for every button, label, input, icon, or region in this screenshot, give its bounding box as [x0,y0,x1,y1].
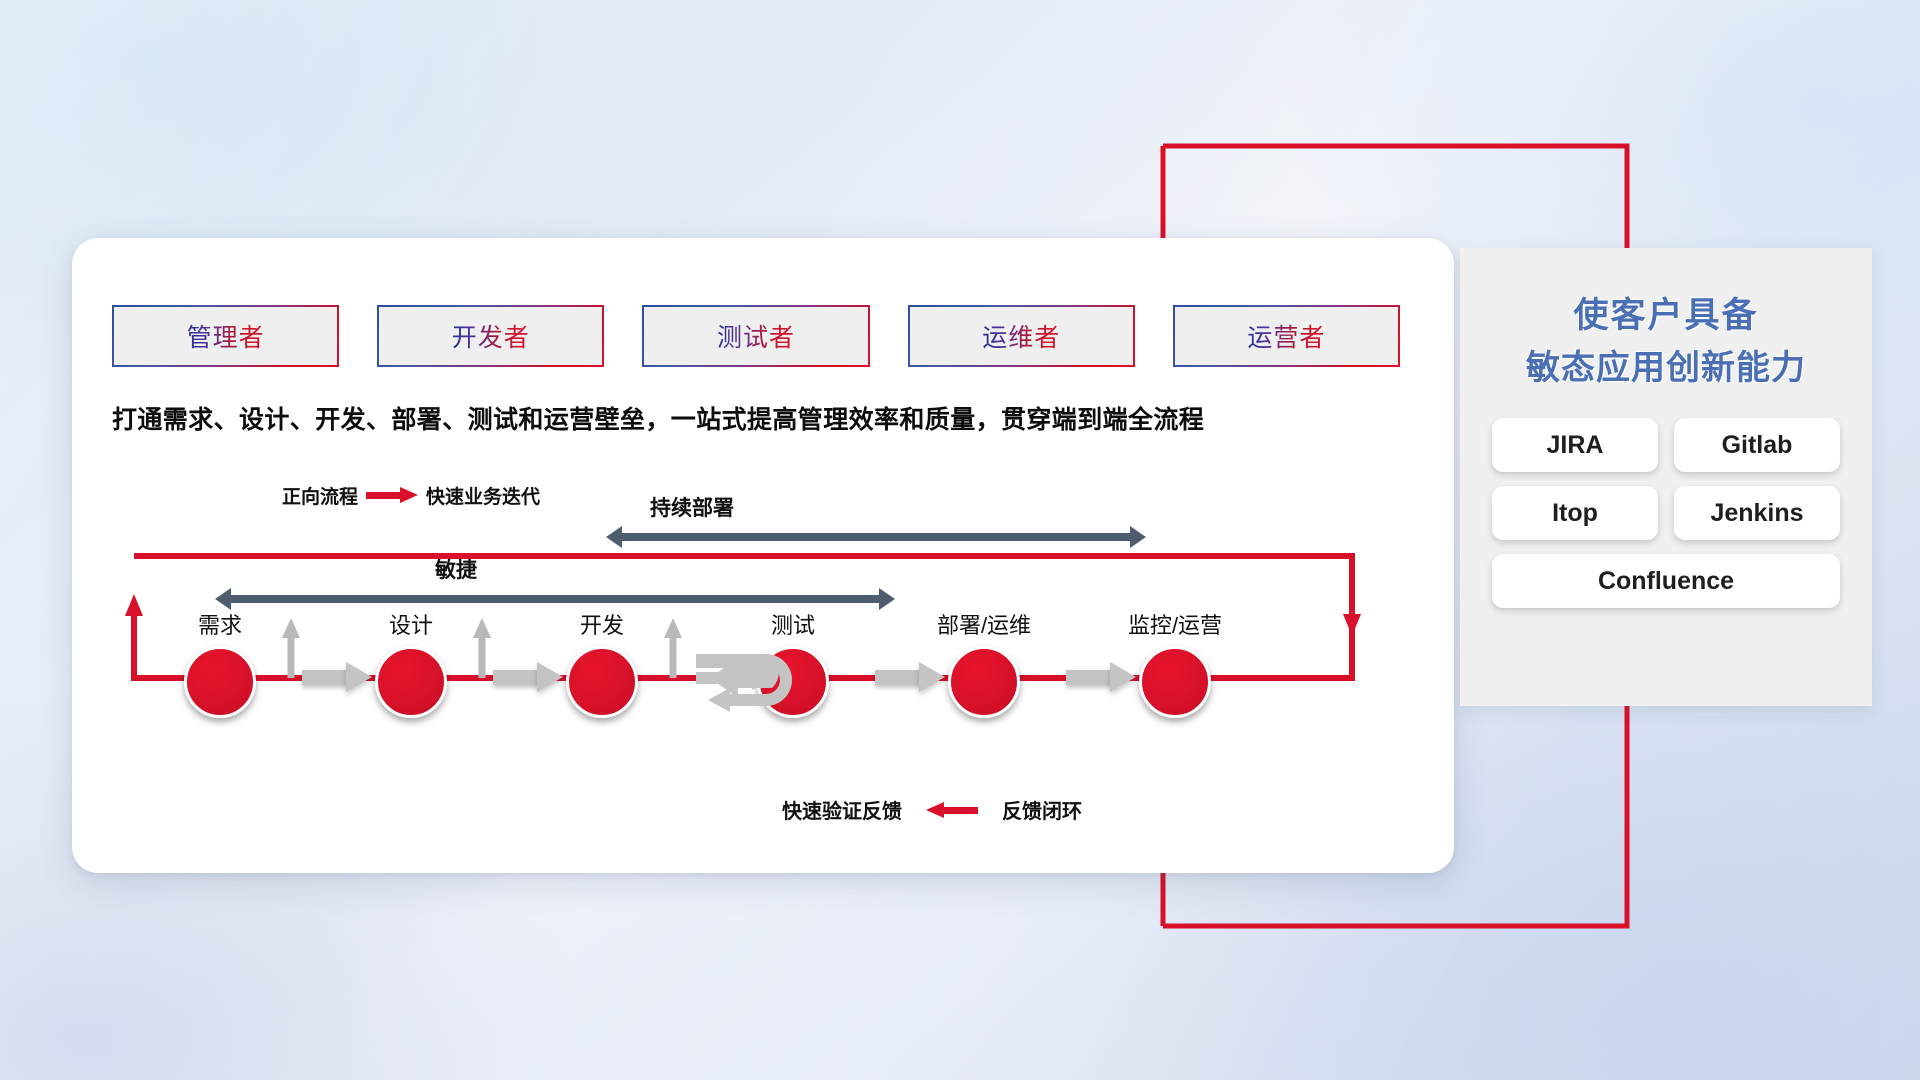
node-deploy-ops[interactable]: 部署/运维 [928,612,1040,718]
node-design[interactable]: 设计 [355,612,467,718]
red-arrow-right-icon [366,487,418,503]
tool-label-confluence: Confluence [1598,567,1734,596]
red-arrow-left-icon [926,802,978,818]
panel-headline-line1: 使客户具备 [1573,296,1758,335]
tool-chip-jira[interactable]: JIRA [1492,418,1658,472]
node-dot-development [566,646,638,718]
role-box-manager[interactable]: 管理者 [112,305,339,367]
role-box-operations[interactable]: 运营者 [1173,305,1400,367]
node-development[interactable]: 开发 [546,612,658,718]
node-dot-deploy-ops [948,646,1020,718]
tool-chip-confluence[interactable]: Confluence [1492,554,1840,608]
role-label-manager: 管理者 [187,318,265,354]
continuous-deployment-span-arrow-icon [606,526,1146,548]
tool-chip-itop[interactable]: Itop [1492,486,1658,540]
tagline-text: 打通需求、设计、开发、部署、测试和运营壁垒，一站式提高管理效率和质量，贯穿端到端… [112,400,1412,436]
agile-span-arrow-icon [215,588,895,610]
agile-label: 敏捷 [435,554,477,584]
role-label-ops: 运维者 [982,318,1060,354]
uturn-loop-arrow-icon [694,648,816,720]
node-label-design: 设计 [355,612,467,640]
node-label-deploy-ops: 部署/运维 [928,612,1040,640]
forward-flow-legend: 正向流程 快速业务迭代 [282,478,540,512]
tool-chip-grid: JIRA Gitlab Itop Jenkins Confluence [1472,418,1860,608]
role-box-row: 管理者 开发者 测试者 运维者 运营者 [112,305,1400,367]
panel-headline: 使客户具备 敏态应用创新能力 [1460,248,1872,394]
feedback-target-label: 快速验证反馈 [782,795,902,824]
value-proposition-panel: 使客户具备 敏态应用创新能力 JIRA Gitlab Itop Jenkins … [1460,248,1872,706]
feedback-loop-legend: 快速验证反馈 反馈闭环 [782,795,1082,824]
node-label-development: 开发 [546,612,658,640]
tool-label-itop: Itop [1552,499,1598,528]
role-label-operations: 运营者 [1247,318,1325,354]
node-requirement[interactable]: 需求 [164,612,276,718]
node-label-testing: 测试 [737,612,849,640]
node-dot-monitor-operations [1139,646,1211,718]
role-label-tester: 测试者 [717,318,795,354]
role-box-tester[interactable]: 测试者 [642,305,869,367]
role-box-ops[interactable]: 运维者 [908,305,1135,367]
node-monitor-operations[interactable]: 监控/运营 [1119,612,1231,718]
role-label-developer: 开发者 [452,318,530,354]
node-dot-design [375,646,447,718]
tool-label-jira: JIRA [1547,431,1604,460]
node-dot-requirement [184,646,256,718]
node-label-monitor-operations: 监控/运营 [1119,612,1231,640]
tool-chip-gitlab[interactable]: Gitlab [1674,418,1840,472]
role-box-developer[interactable]: 开发者 [377,305,604,367]
continuous-deployment-label: 持续部署 [650,492,734,522]
feedback-source-label: 反馈闭环 [1002,795,1082,824]
node-label-requirement: 需求 [164,612,276,640]
tool-chip-jenkins[interactable]: Jenkins [1674,486,1840,540]
tool-label-gitlab: Gitlab [1722,431,1793,460]
forward-flow-target-label: 快速业务迭代 [426,482,540,509]
forward-flow-source-label: 正向流程 [282,482,358,509]
panel-headline-line2: 敏态应用创新能力 [1460,342,1872,394]
tool-label-jenkins: Jenkins [1710,499,1803,528]
